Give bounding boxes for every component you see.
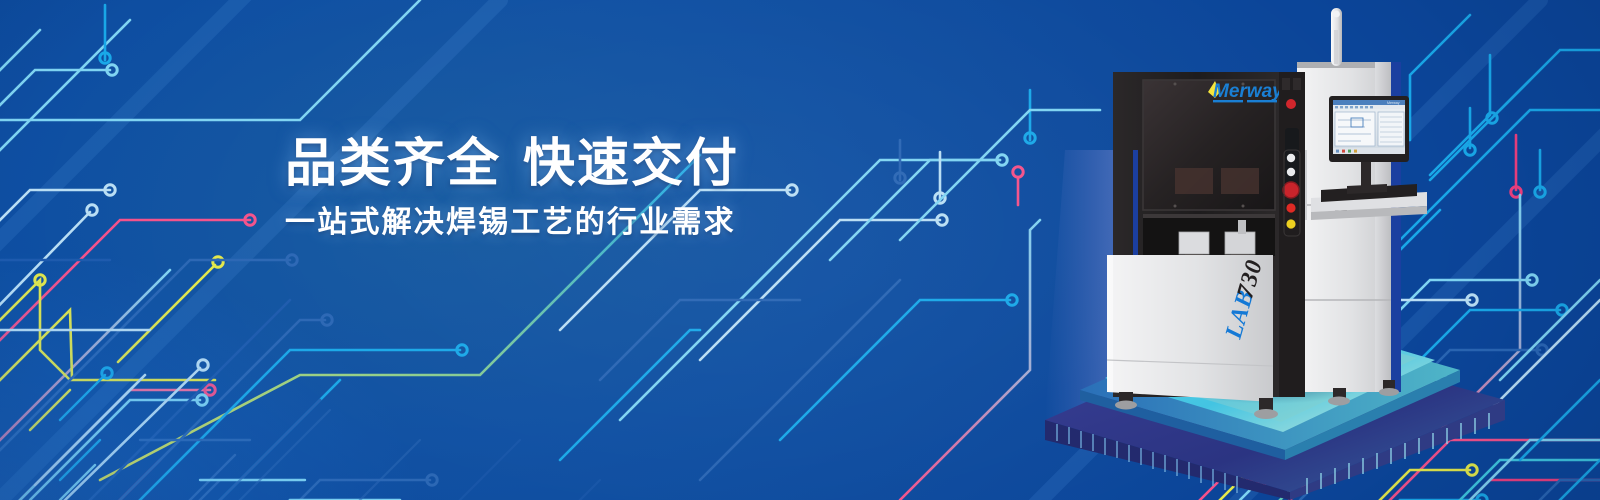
tower-light-icon <box>1331 8 1342 66</box>
power-indicator <box>1286 99 1296 109</box>
page-title: 品类齐全快速交付 <box>285 134 739 194</box>
headline-part-2: 快速交付 <box>523 135 739 193</box>
status-light-2 <box>1287 168 1295 176</box>
control-panel[interactable] <box>1279 72 1305 397</box>
emergency-stop-icon[interactable] <box>1283 182 1299 198</box>
brand-logo: Merway ® <box>1208 79 1288 102</box>
status-light-1 <box>1287 154 1295 162</box>
brand-name: Merway <box>1213 81 1284 102</box>
hero-banner: 品类齐全快速交付 一站式解决焊锡工艺的行业需求 <box>0 0 1600 500</box>
status-light-4 <box>1286 219 1295 228</box>
page-subtitle: 一站式解决焊锡工艺的行业需求 <box>285 205 739 241</box>
product-image-lab730: Merway ® <box>1035 0 1515 500</box>
machine-illustration: Merway ® <box>1035 0 1515 500</box>
status-light-3 <box>1286 203 1295 212</box>
front-cabinet: LAB 730 <box>1107 255 1273 402</box>
svg-text:Merway: Merway <box>1387 101 1400 105</box>
banner-copy: 品类齐全快速交付 一站式解决焊锡工艺的行业需求 <box>285 134 739 241</box>
headline-part-1: 品类齐全 <box>285 135 501 193</box>
machine-body: Merway ® <box>1107 8 1427 419</box>
